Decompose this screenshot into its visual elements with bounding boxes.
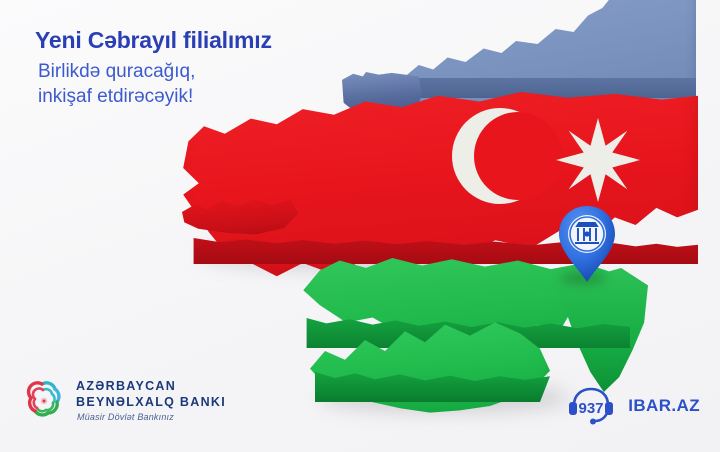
- headset-earpiece-right: [605, 402, 613, 415]
- headline-text-block: Yeni Cəbrayıl filialımız Birlikdə quraca…: [35, 28, 272, 109]
- headset-earpiece-left: [569, 402, 577, 415]
- advertisement-banner: Yeni Cəbrayıl filialımız Birlikdə quraca…: [0, 0, 720, 452]
- page-title: Yeni Cəbrayıl filialımız: [35, 28, 272, 53]
- contact-badge[interactable]: 937 IBAR.AZ: [565, 385, 700, 427]
- website-label[interactable]: IBAR.AZ: [628, 396, 700, 416]
- bank-tagline: Müasir Dövlət Bankınız: [76, 413, 226, 422]
- bank-logo[interactable]: AZƏRBAYCAN BEYNƏLXALQ BANKI Müasir Dövlə…: [22, 378, 226, 424]
- headset-mic-dot: [590, 419, 596, 425]
- subtitle-line-2: inkişaf etdirəcəyik!: [35, 85, 272, 109]
- subtitle-line-1: Birlikdə quracağıq,: [35, 60, 272, 84]
- location-pin-icon: [556, 204, 618, 284]
- bank-name-line-2: BEYNƏLXALQ BANKI: [76, 396, 226, 409]
- bank-name-line-1: AZƏRBAYCAN: [76, 380, 226, 393]
- phone-number: 937: [579, 400, 604, 417]
- bank-logo-mark-icon: [22, 378, 66, 424]
- bank-logo-text: AZƏRBAYCAN BEYNƏLXALQ BANKI Müasir Dövlə…: [76, 380, 226, 422]
- crescent-emblem-cutout: [474, 112, 562, 200]
- location-pin[interactable]: [556, 204, 618, 284]
- headset-icon[interactable]: 937: [565, 385, 617, 427]
